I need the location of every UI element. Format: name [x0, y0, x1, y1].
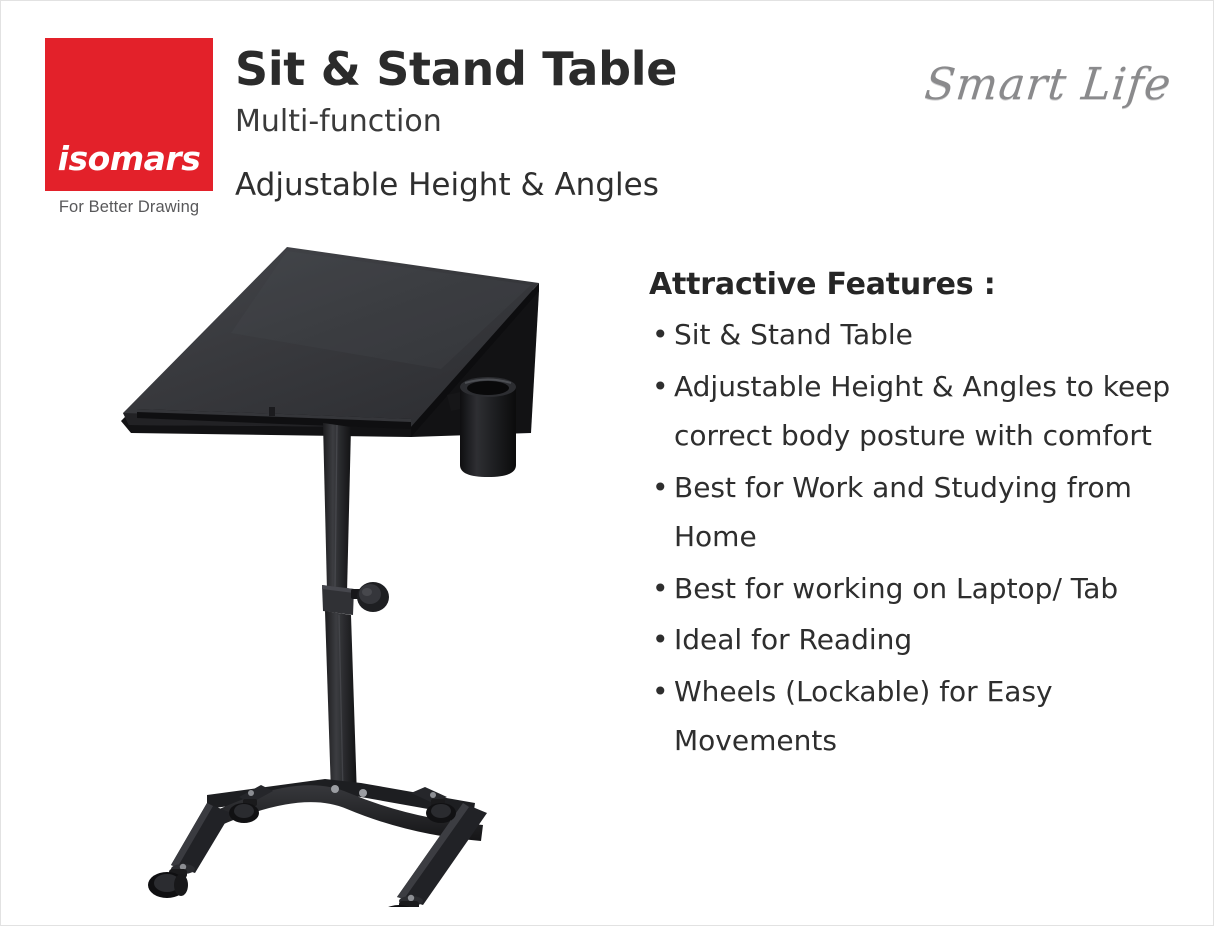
features-heading: Attractive Features : — [649, 267, 1179, 302]
page-tagline: Adjustable Height & Angles — [235, 168, 855, 202]
brand-logo: isomars For Better Drawing — [45, 38, 213, 217]
bullet-icon: • — [652, 615, 669, 665]
list-item-label: Sit & Stand Table — [674, 318, 913, 351]
bullet-icon: • — [652, 362, 669, 412]
list-item-label: Ideal for Reading — [674, 623, 912, 656]
list-item-label: Wheels (Lockable) for Easy Movements — [674, 675, 1053, 758]
list-item-label: Best for working on Laptop/ Tab — [674, 572, 1118, 605]
list-item-label: Adjustable Height & Angles to keep corre… — [674, 370, 1170, 453]
product-image — [111, 237, 581, 907]
height-adjustment-knob — [351, 582, 389, 612]
page-subtitle: Multi-function — [235, 105, 855, 138]
list-item: • Ideal for Reading — [649, 615, 1179, 665]
bullet-icon: • — [652, 667, 669, 717]
castor-wheel — [148, 869, 188, 898]
smart-life-label: Smart Life — [921, 49, 1175, 121]
telescoping-column — [322, 423, 357, 797]
page-title: Sit & Stand Table — [235, 45, 855, 93]
list-item: • Wheels (Lockable) for Easy Movements — [649, 667, 1179, 766]
logo-tagline: For Better Drawing — [45, 198, 213, 217]
list-item: • Adjustable Height & Angles to keep cor… — [649, 362, 1179, 461]
sit-stand-table-illustration — [111, 237, 581, 907]
list-item-label: Best for Work and Studying from Home — [674, 471, 1132, 554]
features-panel: Attractive Features : • Sit & Stand Tabl… — [649, 267, 1179, 768]
rolling-base — [171, 779, 487, 906]
infographic-page: isomars For Better Drawing Sit & Stand T… — [0, 0, 1214, 926]
list-item: • Sit & Stand Table — [649, 310, 1179, 360]
bullet-icon: • — [652, 564, 669, 614]
list-item: • Best for Work and Studying from Home — [649, 463, 1179, 562]
logo-red-square: isomars — [45, 38, 213, 191]
bullet-icon: • — [652, 310, 669, 360]
logo-wordmark: isomars — [45, 142, 213, 175]
title-block: Sit & Stand Table Multi-function Adjusta… — [235, 45, 855, 202]
bullet-icon: • — [652, 463, 669, 513]
list-item: • Best for working on Laptop/ Tab — [649, 564, 1179, 614]
castor-wheel — [378, 901, 422, 907]
features-list: • Sit & Stand Table • Adjustable Height … — [649, 310, 1179, 766]
smart-life-mark: Smart Life — [921, 49, 1171, 121]
